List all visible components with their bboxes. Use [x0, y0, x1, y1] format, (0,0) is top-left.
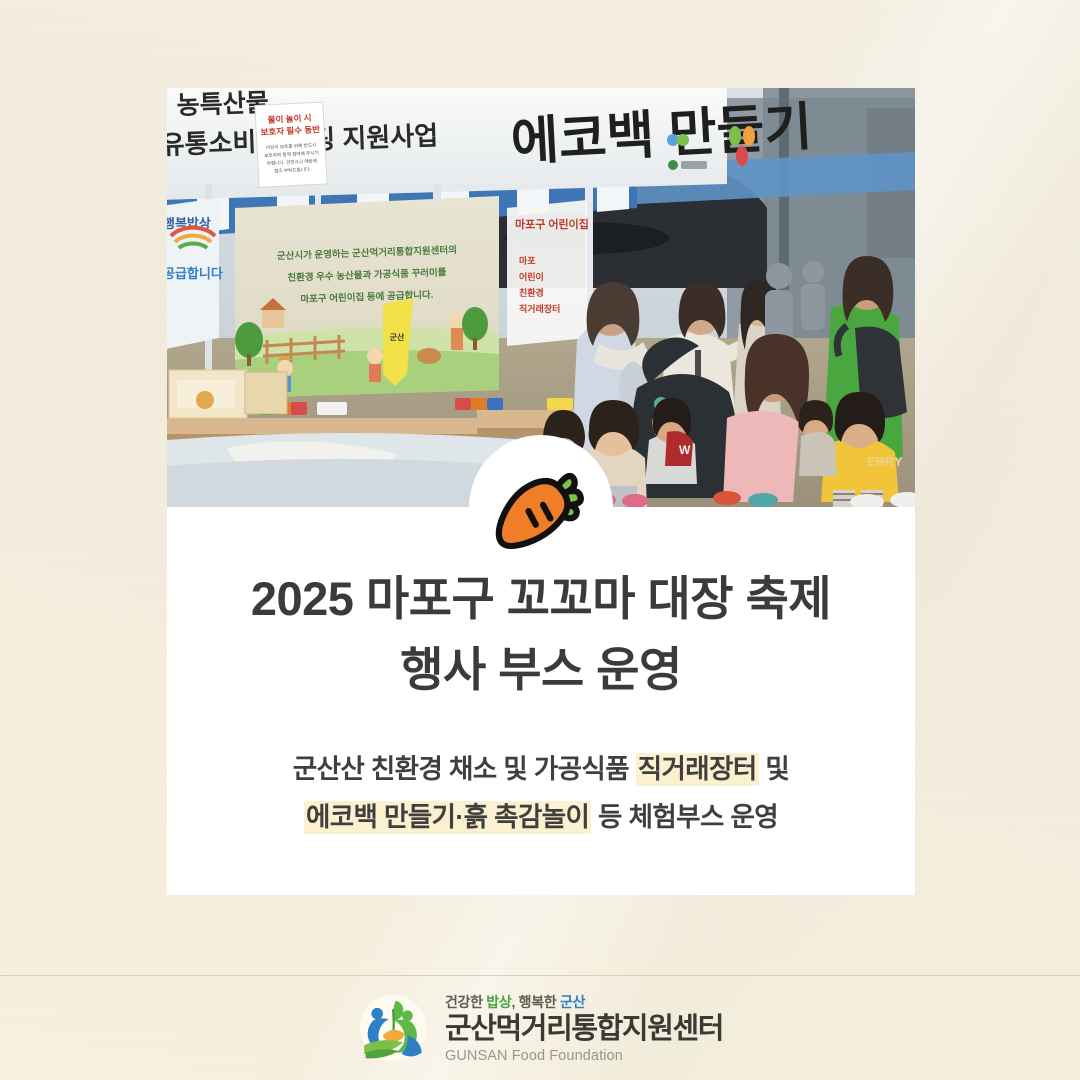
description-line-2: 에코백 만들기·흙 촉감놀이 등 체험부스 운영	[293, 793, 789, 841]
tagline-part-2: 밥상	[486, 994, 511, 1010]
gunsan-food-foundation-logo-icon	[357, 992, 429, 1064]
page-title: 2025 마포구 꼬꼬마 대장 축제 행사 부스 운영	[251, 563, 831, 706]
footer-text: 건강한 밥상, 행복한 군산 군산먹거리통합지원센터 GUNSAN Food F…	[445, 992, 723, 1063]
carrot-icon	[489, 455, 593, 559]
svg-text:마포: 마포	[519, 255, 536, 266]
desc1-seg-1: 군산산 친환경 채소 및 가공식품	[293, 754, 636, 784]
footer: 건강한 밥상, 행복한 군산 군산먹거리통합지원센터 GUNSAN Food F…	[0, 976, 1080, 1080]
description: 군산산 친환경 채소 및 가공식품 직거래장터 및 에코백 만들기·흙 촉감놀이…	[293, 745, 789, 841]
svg-text:마포구 어린이집: 마포구 어린이집	[515, 217, 589, 231]
svg-text:공급합니다: 공급합니다	[167, 266, 223, 281]
desc2-highlight-ecobag: 에코백 만들기·흙 촉감놀이	[304, 801, 591, 834]
tagline-part-1: 건강한	[445, 994, 486, 1010]
svg-text:직거래장터: 직거래장터	[519, 303, 560, 314]
tagline-part-4: 군산	[560, 994, 585, 1010]
footer-organization-name: 군산먹거리통합지원센터	[445, 1014, 723, 1045]
description-line-1: 군산산 친환경 채소 및 가공식품 직거래장터 및	[293, 745, 789, 793]
desc1-highlight-jikgeorae: 직거래장터	[636, 753, 759, 786]
svg-text:W: W	[679, 443, 691, 457]
svg-text:군산: 군산	[390, 332, 405, 342]
tagline-part-3: , 행복한	[511, 994, 560, 1010]
footer-tagline: 건강한 밥상, 행복한 군산	[445, 992, 723, 1012]
svg-text:ERRY: ERRY	[867, 454, 903, 469]
svg-text:어린이: 어린이	[519, 271, 544, 282]
page-root: 농특산물 유통소비 마케팅 지원사업 에코백 만들기	[0, 0, 1080, 1080]
footer-organization-name-en: GUNSAN Food Foundation	[445, 1048, 723, 1064]
desc2-seg-2: 등 체험부스 운영	[591, 802, 778, 832]
desc1-seg-3: 및	[759, 754, 790, 784]
carrot-badge	[469, 435, 613, 579]
svg-text:친환경: 친환경	[519, 287, 544, 298]
content-card: 농특산물 유통소비 마케팅 지원사업 에코백 만들기	[167, 88, 915, 895]
title-line-2: 행사 부스 운영	[251, 634, 831, 705]
